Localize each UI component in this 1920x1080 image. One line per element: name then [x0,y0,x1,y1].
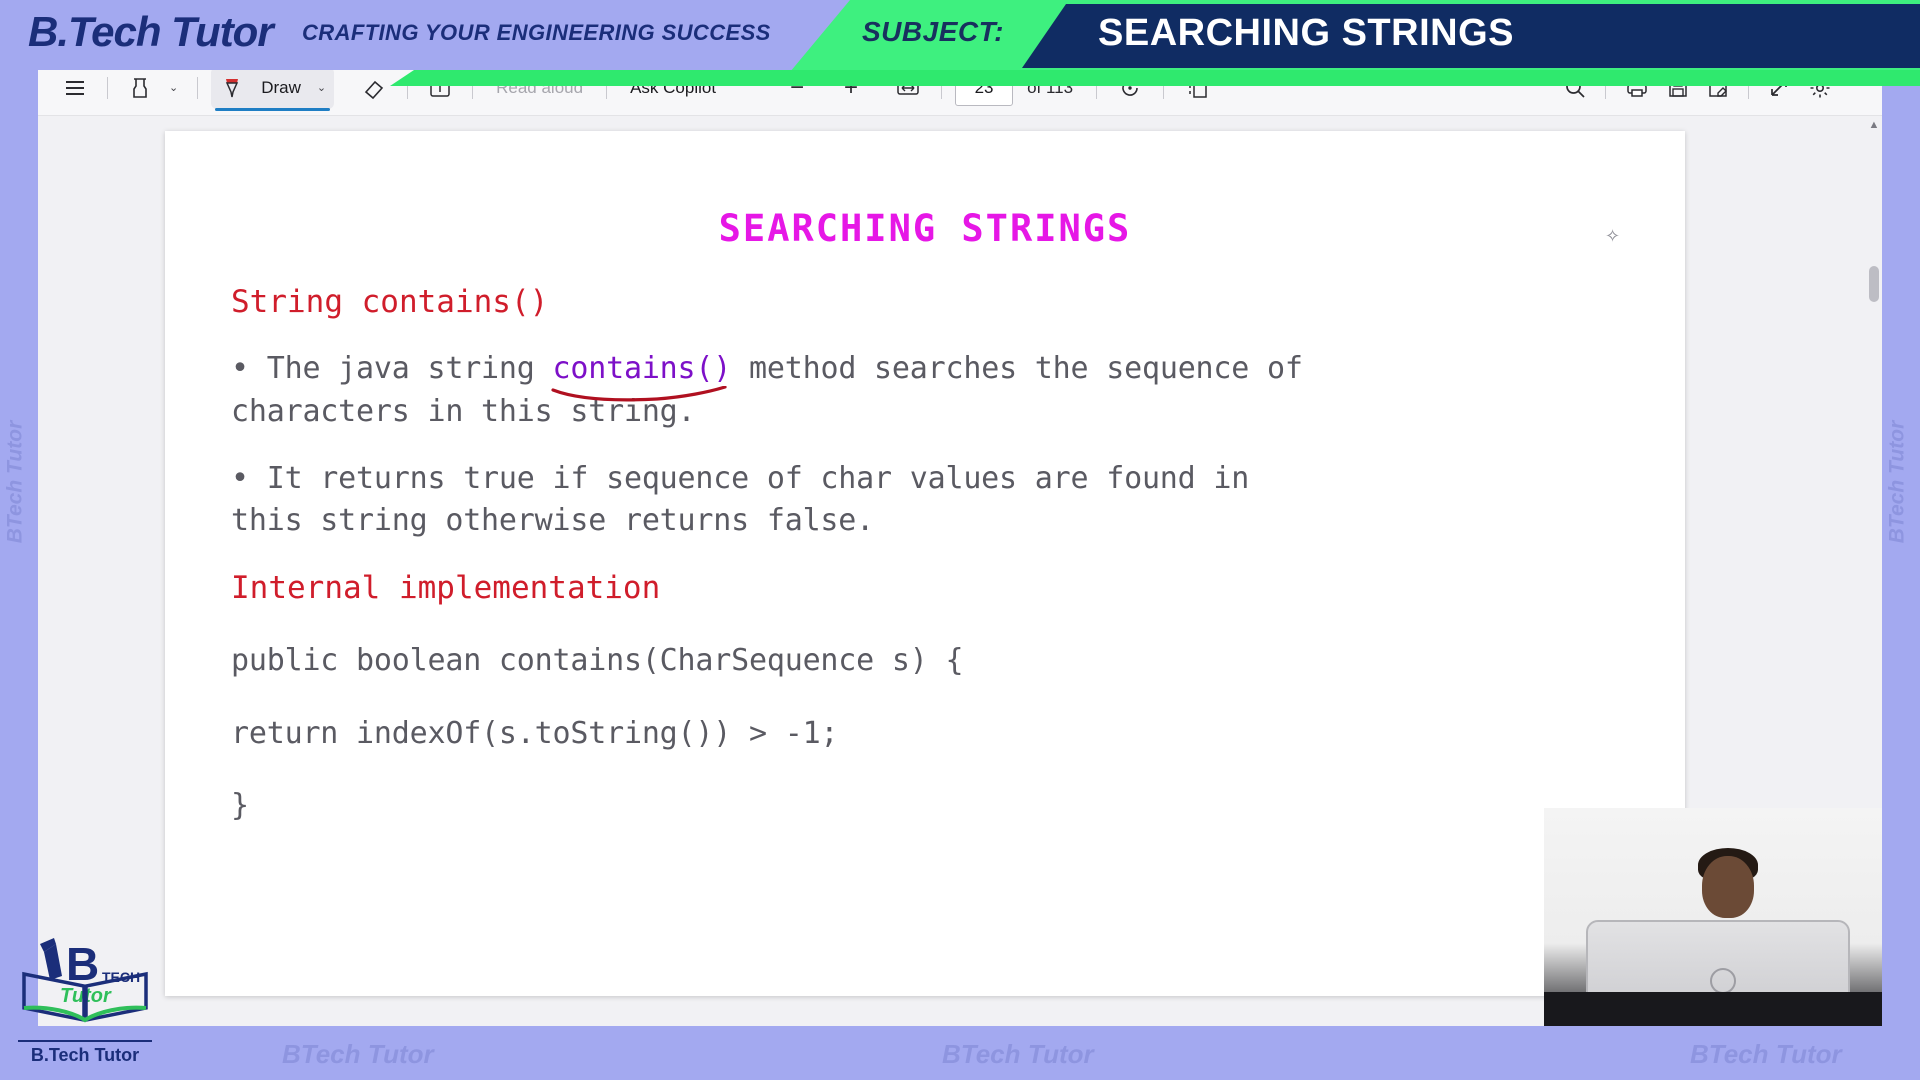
page-body: String contains() • The java string cont… [231,281,1645,828]
watermark-side-left: BTech Tutor [3,421,27,544]
banner-tagline: CRAFTING YOUR ENGINEERING SUCCESS [302,20,771,46]
bullet-item-2: • It returns true if sequence of char va… [231,458,1645,543]
screen-root: mail.google.com/mail/u/0/?tab=rm&ogbl#in… [0,0,1920,1080]
bullet1-text-part1: • The java string [231,351,553,386]
right-brand-strip: BTech Tutor [1882,0,1920,1080]
draw-dropdown-caret-icon[interactable]: ⌄ [311,69,332,107]
highlighter-dropdown-caret-icon[interactable]: ⌄ [163,69,184,107]
page-title: SEARCHING STRINGS [165,207,1685,250]
bottom-brand-strip: BTech Tutor BTech Tutor BTech Tutor [0,1026,1920,1080]
bullet2-line1: • It returns true if sequence of char va… [231,458,1645,501]
draw-tool-group[interactable]: Draw ⌄ [211,67,334,109]
banner-brand-name: B.Tech Tutor [28,8,273,56]
scrollbar-thumb[interactable] [1869,266,1879,302]
banner-subject-title: SEARCHING STRINGS [1098,12,1514,55]
laptop-brand-logo-icon [1710,968,1736,994]
bullet1-line2: characters in this string. [231,391,1645,434]
eraser-icon[interactable] [354,69,394,107]
draw-label[interactable]: Draw [251,78,311,98]
watermark-bottom-center: BTech Tutor [942,1039,1094,1070]
section-heading-contains: String contains() [231,281,1645,324]
watermark-bottom-left: BTech Tutor [282,1039,434,1070]
divider [107,77,108,99]
pdf-page: SEARCHING STRINGS ✧ String contains() • … [165,131,1685,996]
brand-logo: B TECH Tutor B.Tech Tutor [10,928,160,1068]
webcam-overlay [1544,808,1882,1026]
bullet1-keyword-text: contains() [553,351,732,386]
left-brand-strip: BTech Tutor [0,0,38,1080]
code-line-2: return indexOf(s.toString()) > -1; [231,713,1645,756]
logo-mark-icon: B TECH Tutor [10,928,160,1044]
bullet1-text-part2: method searches the sequence of [749,351,1303,386]
logo-divider [18,1040,152,1042]
bullet2-line2: this string otherwise returns false. [231,500,1645,543]
logo-caption: B.Tech Tutor [10,1045,160,1066]
watermark-side-right: BTech Tutor [1885,421,1909,544]
desk-surface [1544,992,1882,1026]
presenter-face [1702,856,1754,918]
divider [197,77,198,99]
section-heading-internal-implementation: Internal implementation [231,567,1645,610]
bullet1-keyword: contains() [553,351,750,386]
hamburger-menu-icon[interactable] [56,69,94,107]
bullet-item-1: • The java string contains() method sear… [231,348,1645,433]
banner-green-tail [390,70,1920,86]
watermark-bottom-right: BTech Tutor [1690,1039,1842,1070]
code-line-3: } [231,785,1645,828]
pen-icon[interactable] [213,69,251,107]
scroll-up-arrow-icon[interactable]: ▲ [1866,116,1882,131]
code-line-1: public boolean contains(CharSequence s) … [231,640,1645,683]
banner-subject-label: SUBJECT: [862,16,1004,48]
highlighter-icon[interactable] [121,69,159,107]
top-banner: B.Tech Tutor CRAFTING YOUR ENGINEERING S… [0,0,1920,70]
annotation-cursor-icon: ✧ [1605,226,1620,247]
